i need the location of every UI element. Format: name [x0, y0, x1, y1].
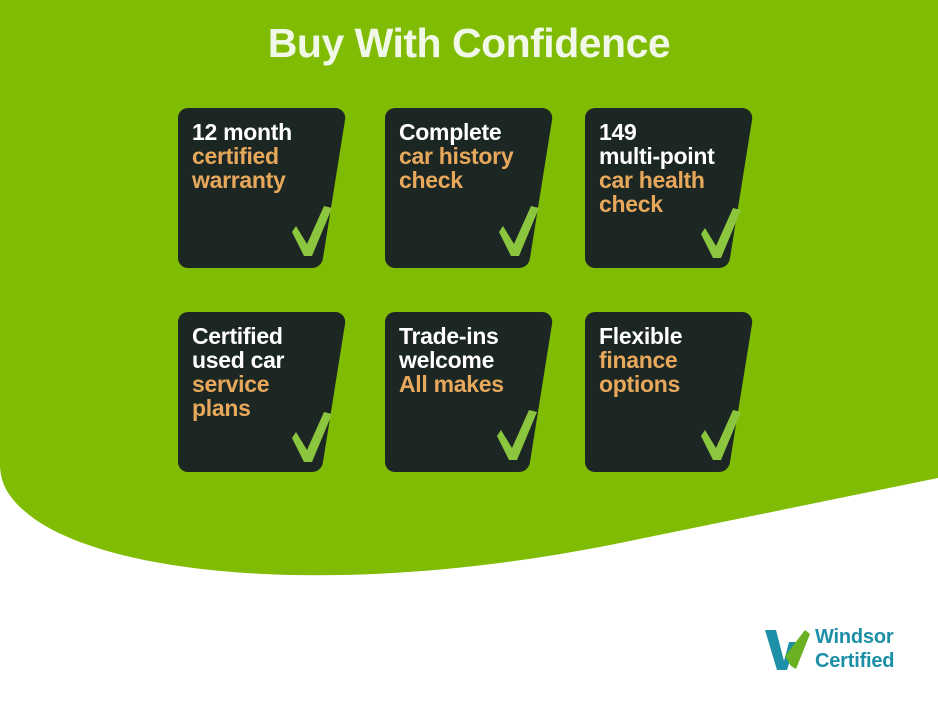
card-line: warranty	[192, 169, 332, 193]
check-icon	[697, 208, 743, 260]
windsor-certified-logo[interactable]: Windsor Certified	[763, 626, 923, 682]
card-line: finance	[599, 349, 739, 373]
benefit-card-grid: 12 month certified warranty Com	[178, 108, 758, 516]
logo-line-2: Certified	[815, 650, 894, 674]
windsor-w-mark-icon	[763, 628, 811, 672]
card-line: car health	[599, 169, 739, 193]
card-line: service	[192, 373, 332, 397]
card-text-block: Certified used car service plans	[192, 325, 332, 421]
card-line: used car	[192, 349, 332, 373]
benefit-card[interactable]: Certified used car service plans	[178, 312, 346, 472]
card-text-block: Flexible finance options	[599, 325, 739, 397]
card-line: check	[399, 169, 539, 193]
slide-canvas: Buy With Confidence 12 month certified w…	[0, 0, 938, 704]
card-line: certified	[192, 145, 332, 169]
benefit-card[interactable]: Complete car history check	[385, 108, 553, 268]
benefit-card[interactable]: Trade-ins welcome All makes	[385, 312, 553, 472]
card-line: options	[599, 373, 739, 397]
check-icon	[493, 410, 539, 462]
card-text-block: Complete car history check	[399, 121, 539, 193]
card-text-block: Trade-ins welcome All makes	[399, 325, 539, 397]
logo-line-1: Windsor	[815, 626, 894, 650]
check-icon	[495, 206, 541, 258]
card-line: Certified	[192, 325, 332, 349]
card-text-block: 12 month certified warranty	[192, 121, 332, 193]
benefit-card-row-2: Certified used car service plans	[178, 312, 758, 472]
card-line: 12 month	[192, 121, 332, 145]
card-line: multi-point	[599, 145, 739, 169]
card-line: All makes	[399, 373, 539, 397]
card-line: welcome	[399, 349, 539, 373]
check-icon	[288, 206, 334, 258]
benefit-card-row-1: 12 month certified warranty Com	[178, 108, 758, 268]
benefit-card[interactable]: 12 month certified warranty	[178, 108, 346, 268]
card-line: 149	[599, 121, 739, 145]
check-icon	[288, 412, 334, 464]
benefit-card[interactable]: 149 multi-point car health check	[585, 108, 753, 268]
logo-wordmark: Windsor Certified	[815, 626, 894, 673]
card-line: car history	[399, 145, 539, 169]
card-text-block: 149 multi-point car health check	[599, 121, 739, 217]
card-line: Complete	[399, 121, 539, 145]
benefit-card[interactable]: Flexible finance options	[585, 312, 753, 472]
card-line: Trade-ins	[399, 325, 539, 349]
card-line: Flexible	[599, 325, 739, 349]
page-title: Buy With Confidence	[0, 20, 938, 67]
check-icon	[697, 410, 743, 462]
